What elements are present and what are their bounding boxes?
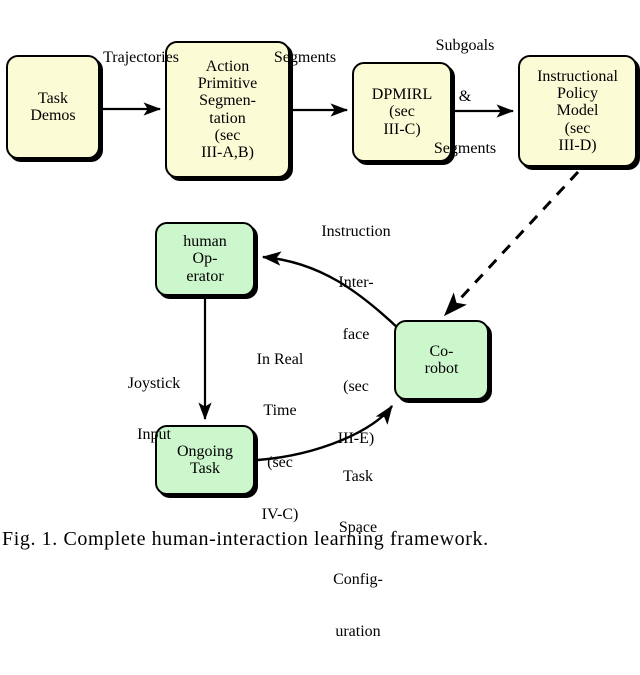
node-human-operator-line-2: erator [186, 268, 223, 285]
figure-diagram: Task Demos Action Primitive Segmen- tati… [0, 0, 640, 549]
edge-label-in-real-time-line-1: Time [230, 402, 330, 419]
node-task-demos-line-0: Task [38, 90, 68, 107]
node-corobot-line-0: Co- [430, 343, 454, 360]
edge-label-joystick-line-0: Joystick [104, 375, 204, 392]
node-action-primitive-line-5: III-A,B) [201, 144, 254, 161]
node-action-primitive-line-4: (sec [215, 127, 241, 144]
edge-label-trajectories: Trajectories [81, 14, 201, 100]
edge-label-task-space-line-3: uration [308, 623, 408, 640]
edge-label-joystick-input: Joystick Input [104, 340, 204, 478]
edge-label-subgoals-line-1: & [400, 88, 530, 105]
node-action-primitive-line-3: tation [209, 110, 245, 127]
node-task-demos-line-1: Demos [30, 107, 75, 124]
edge-label-subgoals-line-2: Segments [400, 140, 530, 157]
node-instructional-policy-line-0: Instructional [537, 68, 618, 85]
node-action-primitive-line-0: Action [206, 58, 250, 75]
edge-label-joystick-line-1: Input [104, 426, 204, 443]
node-human-operator[interactable]: human Op- erator [155, 222, 255, 296]
edge-label-trajectories-line-0: Trajectories [81, 49, 201, 66]
node-instructional-policy-model[interactable]: Instructional Policy Model (sec III-D) [518, 55, 637, 167]
edge-label-task-space-line-1: Space [308, 519, 408, 536]
edge-label-instruction-interface-line-0: Instruction [296, 223, 416, 240]
node-corobot-line-1: robot [425, 360, 459, 377]
node-human-operator-line-0: human [183, 233, 227, 250]
edge-label-instruction-interface-line-1: Inter- [296, 274, 416, 291]
edge-label-task-space-line-2: Config- [308, 571, 408, 588]
arrow-instructional-policy-to-corobot [445, 172, 578, 315]
node-instructional-policy-line-1: Policy [557, 85, 598, 102]
edge-label-in-real-time-line-0: In Real [230, 351, 330, 368]
edge-label-task-space-configuration: Task Space Config- uration [308, 433, 408, 675]
edge-label-subgoals-and-segments: Subgoals & Segments [400, 2, 530, 192]
node-instructional-policy-line-2: Model [557, 102, 599, 119]
node-instructional-policy-line-4: III-D) [558, 137, 596, 154]
edge-label-segments: Segments [245, 14, 365, 100]
edge-label-task-space-line-0: Task [308, 468, 408, 485]
node-instructional-policy-line-3: (sec [565, 120, 591, 137]
edge-label-segments-line-0: Segments [245, 49, 365, 66]
node-human-operator-line-1: Op- [193, 250, 218, 267]
edge-label-subgoals-line-0: Subgoals [400, 37, 530, 54]
